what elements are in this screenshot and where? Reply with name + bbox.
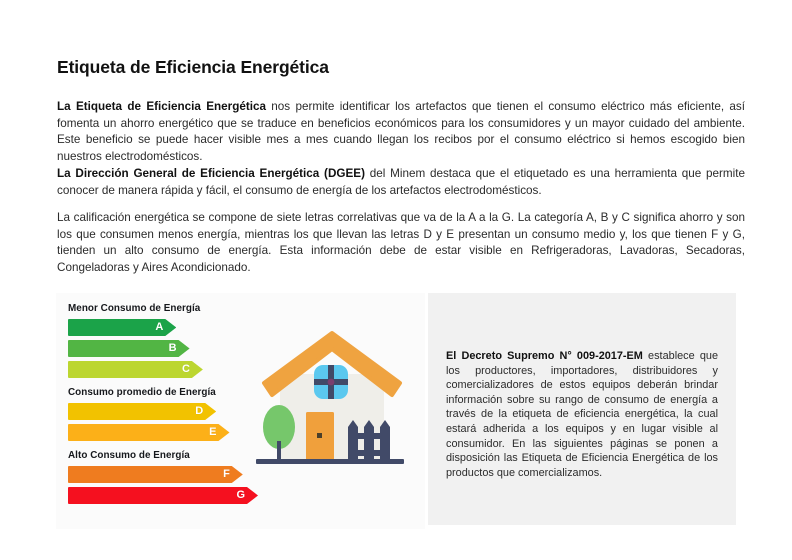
energy-bar-d: D (68, 403, 216, 420)
energy-bar-letter-b: B (169, 343, 177, 354)
energy-bar-row: G (68, 487, 258, 504)
page-title: Etiqueta de Eficiencia Energética (57, 57, 329, 78)
dgee-paragraph-lead: La Dirección General de Eficiencia Energ… (57, 167, 365, 180)
house-illustration (252, 329, 412, 494)
energy-bar-a: A (68, 319, 176, 336)
energy-bar-row: E (68, 424, 258, 441)
energy-bar-letter-a: A (155, 322, 163, 333)
decreto-lead: El Decreto Supremo N° 009-2017-EM (446, 350, 643, 362)
scale-heading-low: Menor Consumo de Energía (68, 303, 258, 314)
fence-rail-top (348, 433, 390, 439)
decreto-body: establece que los productores, importado… (446, 350, 718, 479)
house-window-center (328, 379, 335, 386)
house-door-knob (317, 433, 322, 438)
document-page: Etiqueta de Eficiencia Energética La Eti… (0, 0, 792, 560)
intro-paragraph-lead: La Etiqueta de Eficiencia Energética (57, 100, 266, 113)
ground-line (256, 459, 404, 464)
dgee-paragraph: La Dirección General de Eficiencia Energ… (57, 166, 745, 199)
fence-rail-bottom (348, 450, 390, 456)
energy-bar-b: B (68, 340, 190, 357)
decreto-panel: El Decreto Supremo N° 009-2017-EM establ… (428, 293, 736, 525)
scale-heading-high: Alto Consumo de Energía (68, 450, 258, 461)
energy-bar-letter-c: C (182, 364, 190, 375)
energy-bar-row: B (68, 340, 258, 357)
energy-bar-e: E (68, 424, 230, 441)
intro-paragraph: La Etiqueta de Eficiencia Energética nos… (57, 99, 745, 165)
energy-bar-c: C (68, 361, 203, 378)
tree-trunk (277, 441, 281, 461)
calificacion-paragraph: La calificación energética se compone de… (57, 210, 745, 276)
energy-bar-row: C (68, 361, 258, 378)
energy-bar-g: G (68, 487, 258, 504)
energy-label-panel: Menor Consumo de Energía A B C Consumo p… (56, 293, 425, 529)
energy-bar-letter-e: E (209, 427, 216, 438)
energy-efficiency-scale: Menor Consumo de Energía A B C Consumo p… (68, 303, 258, 508)
scale-heading-average: Consumo promedio de Energía (68, 387, 258, 398)
energy-bar-letter-d: D (195, 406, 203, 417)
energy-bar-letter-f: F (223, 469, 230, 480)
decreto-paragraph: El Decreto Supremo N° 009-2017-EM establ… (446, 349, 718, 480)
energy-bar-row: F (68, 466, 258, 483)
energy-bar-row: D (68, 403, 258, 420)
energy-bar-f: F (68, 466, 243, 483)
fence (348, 420, 390, 460)
energy-bar-letter-g: G (236, 490, 245, 501)
energy-bar-row: A (68, 319, 258, 336)
